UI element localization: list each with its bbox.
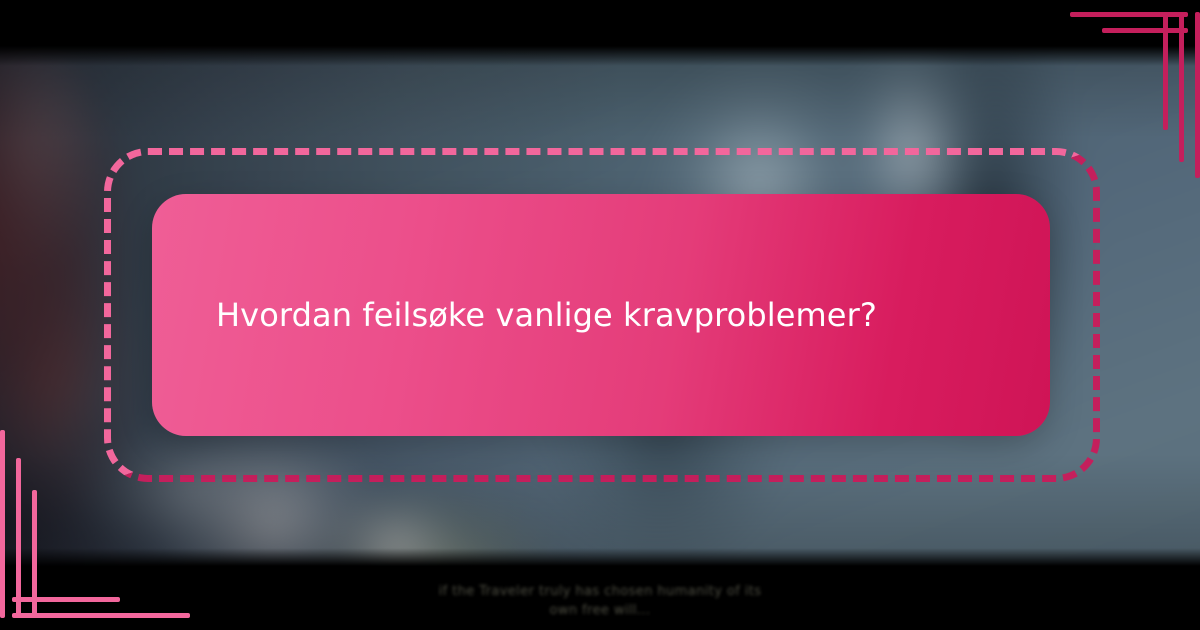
- letterbox-fade-bottom: [0, 548, 1200, 566]
- decoration-bottom-left-rule-2: [12, 597, 120, 602]
- card-title-text: Hvordan feilsøke vanlige kravproblemer?: [152, 294, 941, 336]
- letterbox-fade-top: [0, 46, 1200, 66]
- title-card: Hvordan feilsøke vanlige kravproblemer?: [152, 194, 1050, 436]
- decoration-top-right-vrule-1: [1163, 12, 1168, 130]
- decoration-top-right-rule-1: [1070, 12, 1188, 17]
- social-card-canvas: if the Traveler truly has chosen humanit…: [0, 0, 1200, 630]
- decoration-bottom-left-vrule-3: [32, 490, 37, 618]
- decoration-top-right-vrule-2: [1179, 12, 1184, 162]
- letterbox-bar-top: [0, 0, 1200, 46]
- decoration-bottom-left-vrule-2: [16, 458, 21, 618]
- decoration-bottom-left-vrule-1: [0, 430, 5, 618]
- decoration-top-right-rule-2: [1102, 28, 1188, 33]
- decoration-bottom-left-rule-1: [12, 613, 190, 618]
- decoration-top-right-vrule-3: [1195, 12, 1200, 178]
